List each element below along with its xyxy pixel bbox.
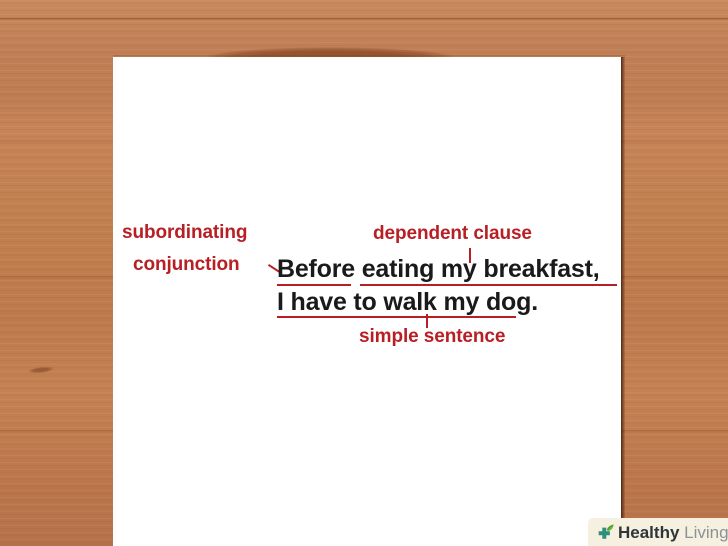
- sentence-line-1: Before eating my breakfast,: [277, 255, 600, 284]
- label-subordinating: subordinating: [122, 222, 247, 244]
- sentence-line-2: I have to walk my dog.: [277, 288, 538, 317]
- underline-dependent-clause: [360, 284, 617, 286]
- green-cross-leaf-icon: [594, 521, 616, 543]
- label-conjunction: conjunction: [133, 254, 240, 276]
- underline-simple-sentence: [277, 316, 516, 318]
- logo-wordmark: Healthy Living: [618, 524, 728, 541]
- label-dependent-clause: dependent clause: [373, 223, 532, 245]
- healthy-living-watermark: Healthy Living: [588, 518, 728, 546]
- logo-living-text: Living: [679, 523, 728, 542]
- grammar-diagram: subordinating conjunction dependent clau…: [113, 57, 621, 546]
- logo-healthy-text: Healthy: [618, 523, 679, 542]
- screenshot-stage: subordinating conjunction dependent clau…: [0, 0, 728, 546]
- wood-grain-arcs: [0, 0, 728, 58]
- paper-shadow-right: [621, 57, 625, 546]
- wood-plank-seam: [0, 18, 728, 20]
- label-simple-sentence: simple sentence: [359, 326, 505, 348]
- underline-subordinating-conjunction: [277, 284, 351, 286]
- wood-knot: [28, 366, 54, 375]
